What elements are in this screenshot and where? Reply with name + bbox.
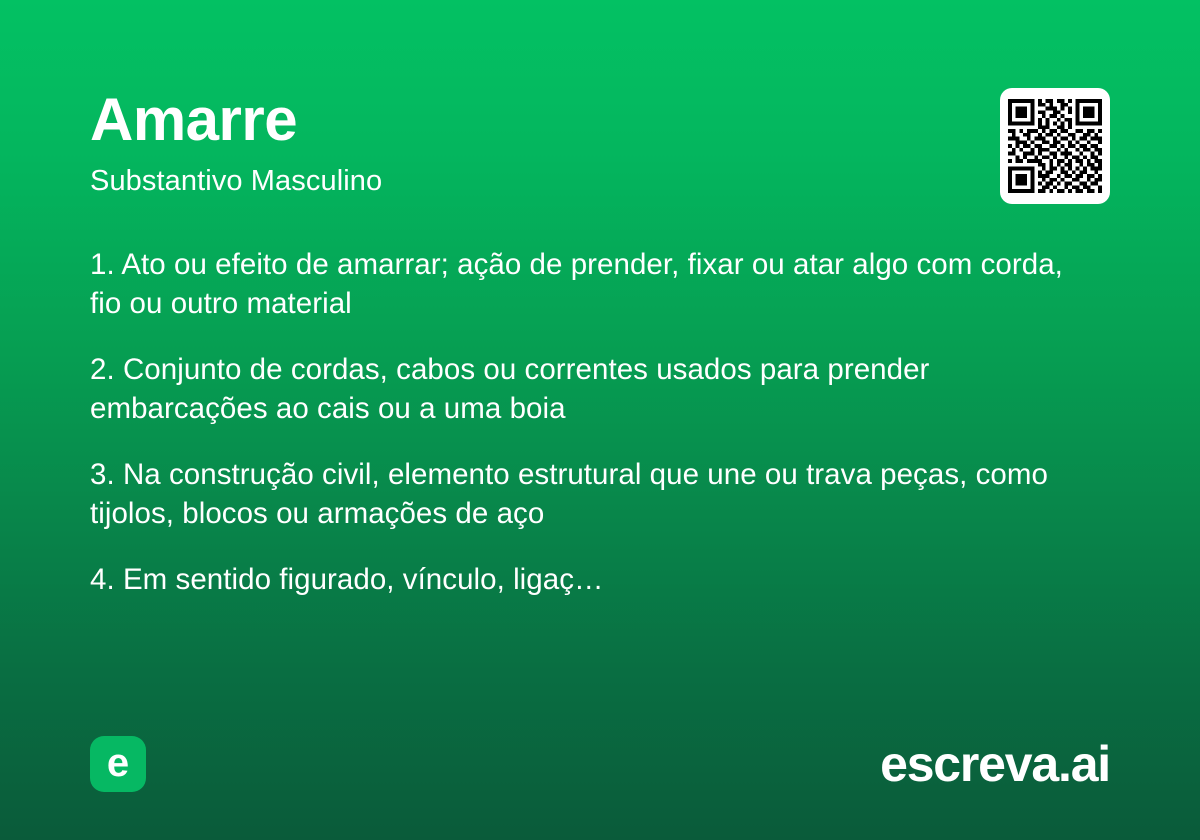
definition-item: 4. Em sentido figurado, vínculo, ligaç…	[90, 561, 1080, 600]
definition-item: 2. Conjunto de cordas, cabos ou corrente…	[90, 351, 1080, 428]
dictionary-card: Amarre Substantivo Masculino 1. Ato ou e…	[0, 0, 1200, 840]
qr-code-icon[interactable]	[1000, 88, 1110, 204]
card-footer: e escreva.ai	[90, 736, 1110, 792]
qr-code-graphic	[1008, 96, 1102, 196]
word-headings: Amarre Substantivo Masculino	[90, 88, 382, 198]
escreva-logo-icon[interactable]: e	[90, 736, 146, 792]
word-class-label: Substantivo Masculino	[90, 165, 382, 198]
definitions-list: 1. Ato ou efeito de amarrar; ação de pre…	[90, 246, 1090, 600]
page-title: Amarre	[90, 88, 382, 151]
brand-wordmark: escreva.ai	[880, 739, 1110, 789]
definition-item: 3. Na construção civil, elemento estrutu…	[90, 456, 1080, 533]
definition-item: 1. Ato ou efeito de amarrar; ação de pre…	[90, 246, 1080, 323]
logo-letter: e	[107, 743, 129, 783]
card-header: Amarre Substantivo Masculino	[90, 88, 1110, 204]
